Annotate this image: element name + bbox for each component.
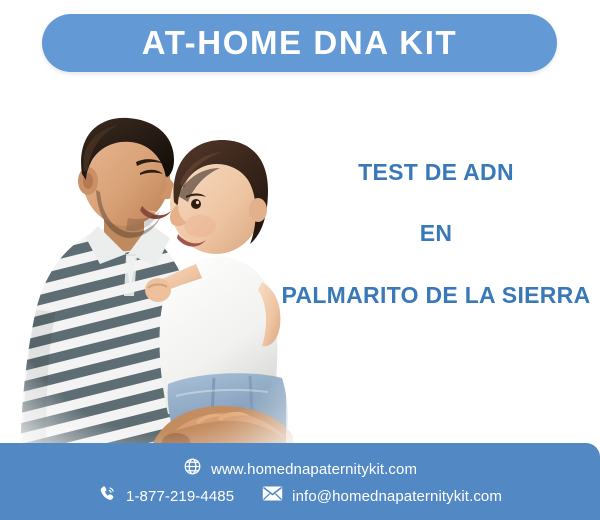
email-contact[interactable]: info@homednapaternitykit.com: [262, 484, 502, 508]
phone-icon: [98, 484, 117, 508]
website-label: www.homednapaternitykit.com: [211, 461, 417, 478]
headline-line-2: EN: [272, 221, 600, 246]
headline-line-1: TEST DE ADN: [272, 160, 600, 185]
envelope-icon: [262, 484, 283, 508]
headline-line-3: PALMARITO DE LA SIERRA: [272, 283, 600, 308]
page-title: AT-HOME DNA KIT: [142, 24, 457, 62]
footer-row-phone-email: 1-877-219-4485 info@homednapaternitykit.…: [98, 484, 502, 508]
poster-canvas: AT-HOME DNA KIT: [0, 0, 600, 520]
footer-row-website: www.homednapaternitykit.com: [183, 457, 417, 481]
phone-label: 1-877-219-4485: [126, 488, 234, 505]
website-contact[interactable]: www.homednapaternitykit.com: [183, 457, 417, 481]
phone-contact[interactable]: 1-877-219-4485: [98, 484, 234, 508]
headline-block: TEST DE ADN EN PALMARITO DE LA SIERRA: [272, 160, 600, 308]
email-label: info@homednapaternitykit.com: [292, 488, 502, 505]
contact-footer: www.homednapaternitykit.com 1-877-219-44…: [0, 443, 600, 520]
globe-icon: [183, 457, 202, 481]
header-banner: AT-HOME DNA KIT: [42, 14, 557, 72]
